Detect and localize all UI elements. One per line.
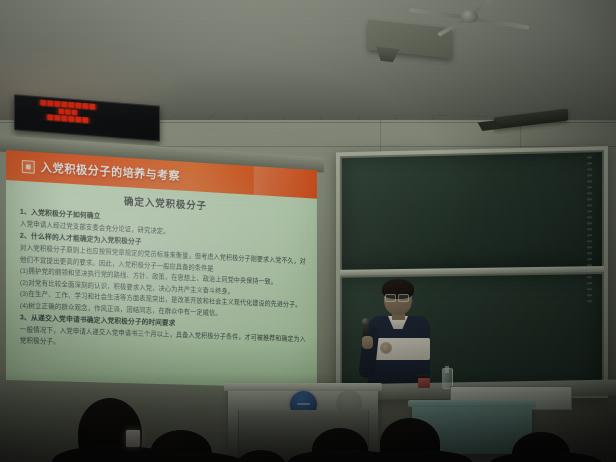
student-phone-screen bbox=[126, 430, 140, 447]
slide-title: 入党积极分子的培养与考察 bbox=[41, 159, 180, 183]
fan-hub bbox=[460, 10, 478, 23]
blackboard-slider-track bbox=[587, 156, 592, 306]
speaker-shirt-logo bbox=[381, 343, 391, 353]
speaker bbox=[362, 282, 444, 398]
blackboard-panel-upper bbox=[342, 152, 602, 270]
bottle-cap-icon bbox=[444, 363, 449, 366]
red-box-object bbox=[418, 378, 430, 388]
slide-body-text: 1、入党积极分子如何确立 入党申请人经过党支部支委会充分论证，研究决定。 2、什… bbox=[20, 209, 306, 356]
classroom-photo: ■■■■■■■■ ■■■ ■■■■■■ bbox=[0, 0, 616, 462]
projection-screen: 入党积极分子的培养与考察 确定入党积极分子 1、入党积极分子如何确立 入党申请人… bbox=[6, 150, 317, 388]
presentation-slide: 入党积极分子的培养与考察 确定入党积极分子 1、入党积极分子如何确立 入党申请人… bbox=[6, 150, 317, 388]
slide-bullet-icon bbox=[22, 160, 35, 174]
glasses-icon bbox=[385, 294, 409, 300]
speaker-hand bbox=[362, 336, 373, 349]
ceiling-fan bbox=[408, 2, 528, 36]
